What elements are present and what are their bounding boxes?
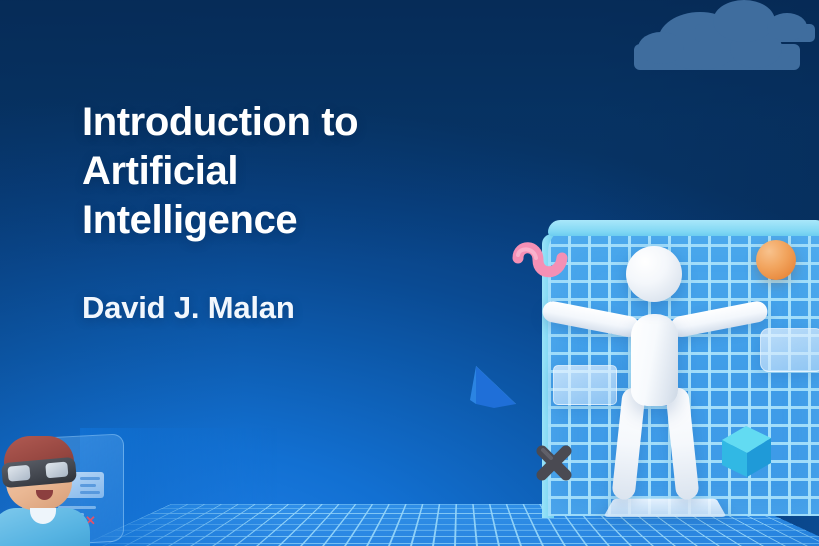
illustration-scene (400, 190, 819, 546)
panel-card-right (760, 328, 819, 372)
presenter-avatar: ✕ (0, 428, 140, 546)
slide-canvas: Introduction toArtificialIntelligence Da… (0, 0, 819, 546)
squiggle-icon (512, 238, 572, 282)
x-mark-icon (531, 440, 577, 486)
figure-head (626, 246, 682, 302)
figure-platform (603, 499, 726, 517)
sphere-icon (756, 240, 796, 280)
cube-icon (714, 420, 776, 482)
panel-card-left (553, 365, 617, 405)
pyramid-icon (464, 362, 522, 412)
figure-torso (631, 314, 678, 406)
cloud-large-icon (634, 44, 800, 70)
title-line-3: Intelligence (82, 198, 297, 242)
grid-panel-top-edge (548, 220, 819, 236)
title-line-2: Artificial (82, 149, 238, 193)
title-line-1: Introduction to (82, 100, 358, 144)
cloud-small-icon (695, 24, 815, 42)
